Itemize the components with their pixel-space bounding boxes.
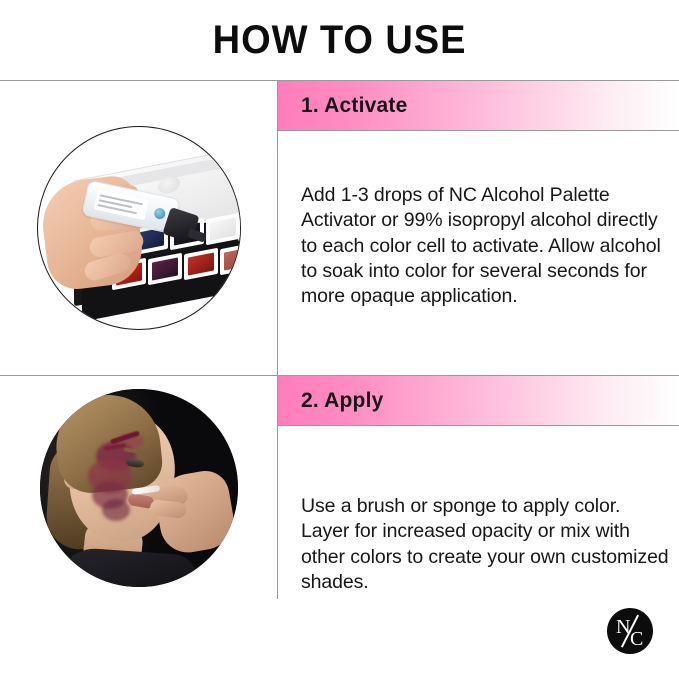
logo-letter-c: C	[630, 629, 643, 649]
face-scene	[40, 389, 238, 587]
shoulder	[56, 546, 199, 587]
step-row-1: 1. Activate Add 1-3 drops of NC Alcohol …	[0, 81, 679, 375]
step-1-title: 1. Activate	[301, 94, 407, 118]
step-2-body: Use a brush or sponge to apply color. La…	[301, 494, 669, 595]
step-row-2: 2. Apply Use a brush or sponge to apply …	[0, 376, 679, 599]
bottle-logo-dot	[153, 207, 166, 220]
page-title: HOW TO USE	[213, 20, 467, 60]
finger	[82, 251, 132, 283]
step-2-title: 2. Apply	[301, 389, 384, 413]
step-2-text-cell: 2. Apply Use a brush or sponge to apply …	[278, 376, 679, 599]
step-1-header: 1. Activate	[278, 81, 679, 131]
page-title-bar: HOW TO USE	[0, 0, 679, 80]
step-1-text-cell: 1. Activate Add 1-3 drops of NC Alcohol …	[278, 81, 679, 375]
palette-activation-photo	[37, 126, 241, 330]
step-2-header: 2. Apply	[278, 376, 679, 426]
how-to-use-infographic: HOW TO USE	[0, 0, 679, 679]
step-2-image-cell	[0, 376, 277, 599]
palette-scene	[38, 127, 240, 329]
nc-logo: N C	[607, 608, 653, 654]
sfx-makeup-photo	[40, 389, 238, 587]
artist-finger	[149, 499, 186, 519]
step-1-image-cell	[0, 81, 277, 375]
bruise-patch	[102, 499, 130, 521]
step-1-body: Add 1-3 drops of NC Alcohol Palette Acti…	[301, 183, 669, 310]
